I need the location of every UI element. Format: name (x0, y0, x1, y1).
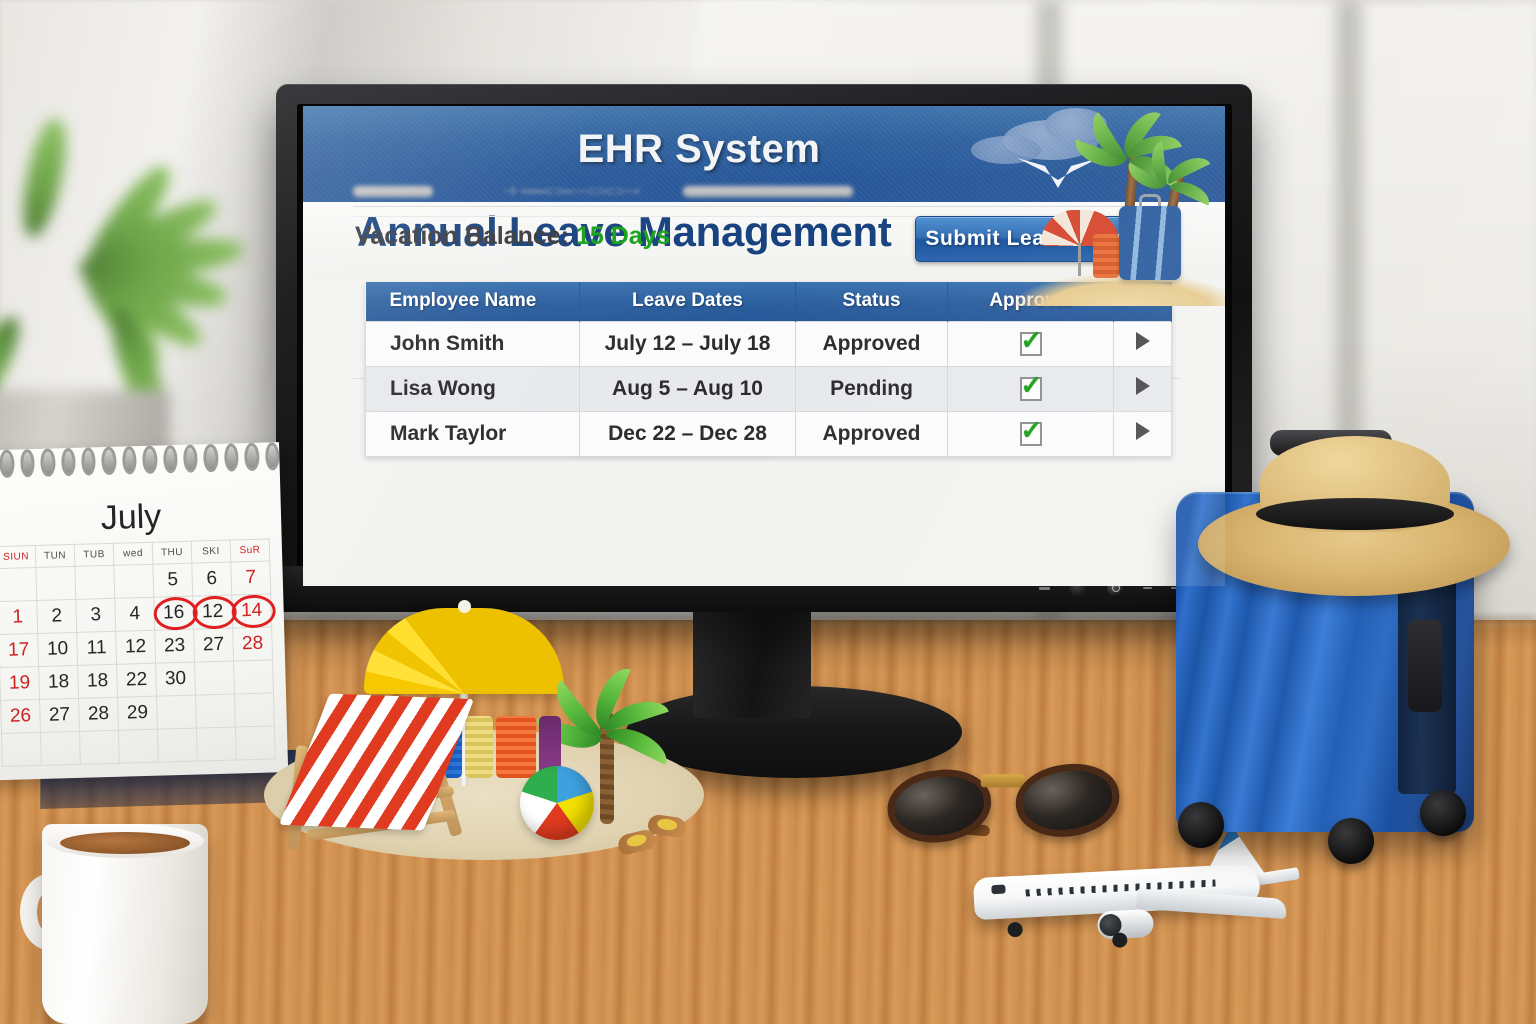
calendar-month-label: July (0, 494, 282, 541)
calendar-weekday-header: SKI (191, 540, 231, 563)
suitcase-wheel (1328, 818, 1374, 864)
calendar-day: 2 (37, 599, 77, 633)
airplane-wing (1136, 889, 1287, 919)
calendar-day (40, 731, 80, 765)
straw-hat (1198, 436, 1510, 596)
cell-employee-name: Lisa Wong (366, 366, 580, 411)
cell-action[interactable] (1114, 366, 1172, 411)
sunglasses-lens (1012, 758, 1124, 842)
calendar-grid: SIUN TUN TUB wed THU SKI SuR (0, 538, 276, 767)
deck-chair (271, 687, 481, 851)
beach-ball (520, 766, 594, 840)
cell-status: Approved (796, 411, 948, 456)
calendar-day-circled: 12 (193, 595, 233, 629)
cell-approval[interactable] (948, 321, 1114, 366)
table-row[interactable]: Lisa Wong Aug 5 – Aug 10 Pending (366, 366, 1172, 411)
blurred-subtitle-text: ⊣⊢∞∞∞⊂⊃∞∩∽⊂⊃⊂⊃∽∝ (503, 184, 640, 198)
approval-checkbox[interactable] (1020, 422, 1042, 446)
cell-leave-dates: Dec 22 – Dec 28 (580, 411, 796, 456)
umbrella-canopy (364, 608, 564, 694)
calendar-day: 18 (39, 665, 79, 699)
calendar-day (0, 567, 37, 601)
calendar-day (114, 564, 154, 598)
calendar-day (79, 730, 119, 764)
calendar-day (36, 566, 76, 600)
table-body: John Smith July 12 – July 18 Approved Li… (366, 321, 1172, 456)
column-header-employee-name[interactable]: Employee Name (366, 282, 580, 321)
vacation-balance-value: 15 Days (576, 222, 671, 250)
suitcase-wheel (1178, 802, 1224, 848)
coffee-mug (24, 812, 214, 1024)
calendar-day: 30 (156, 662, 196, 696)
office-desk-scene: EHR System Annual Leav (0, 0, 1536, 1024)
luggage-group (1162, 430, 1522, 880)
calendar-day: 26 (1, 699, 41, 733)
suitcase-wheel (1420, 790, 1466, 836)
vacation-balance-label: Vacation Balance: 15 Days (355, 222, 670, 251)
approval-checkbox[interactable] (1020, 377, 1042, 401)
calendar-page: July SIUN TUN TUB wed THU SKI SuR (0, 442, 288, 780)
cell-approval[interactable] (948, 411, 1114, 456)
landing-gear (1112, 932, 1128, 948)
calendar-day (196, 727, 236, 761)
travel-bag-icon (1093, 234, 1119, 278)
expand-row-arrow-icon[interactable] (1136, 332, 1150, 350)
calendar-day (2, 732, 42, 766)
hat-band (1256, 498, 1454, 530)
towel (496, 716, 536, 778)
calendar-day: 19 (0, 666, 40, 700)
screen-content: EHR System Annual Leav (303, 106, 1225, 586)
calendar-day (157, 695, 197, 729)
cell-employee-name: Mark Taylor (366, 411, 580, 456)
calendar-week-row (2, 726, 276, 767)
calendar-day: 27 (40, 698, 80, 732)
calendar-day: 7 (231, 561, 271, 595)
calendar-day: 17 (0, 633, 39, 667)
suitcase-icon (1119, 206, 1181, 280)
expand-row-arrow-icon[interactable] (1136, 377, 1150, 395)
calendar-day: 1 (0, 600, 38, 634)
calendar-day (118, 729, 158, 763)
cell-status: Pending (796, 366, 948, 411)
landing-gear (1007, 922, 1023, 938)
column-header-leave-dates[interactable]: Leave Dates (580, 282, 796, 321)
calendar-weekday-header: SuR (230, 539, 270, 562)
sunglasses-bridge (981, 774, 1025, 787)
cell-leave-dates: July 12 – July 18 (580, 321, 796, 366)
palm-frond-icon (1163, 152, 1210, 184)
expand-row-arrow-icon[interactable] (1136, 422, 1150, 440)
calendar-day: 29 (118, 696, 158, 730)
miniature-beach-set (258, 598, 728, 868)
calendar-day: 3 (76, 598, 116, 632)
calendar-day: 27 (194, 628, 234, 662)
menu-icon[interactable] (1039, 587, 1050, 590)
cell-leave-dates: Aug 5 – Aug 10 (580, 366, 796, 411)
coffee-surface (60, 832, 190, 854)
calendar-day: 5 (153, 563, 193, 597)
calendar-weekday-header: TUN (35, 544, 75, 567)
approval-checkbox[interactable] (1020, 332, 1042, 356)
cell-approval[interactable] (948, 366, 1114, 411)
calendar-day: 11 (77, 631, 117, 665)
table-row[interactable]: John Smith July 12 – July 18 Approved (366, 321, 1172, 366)
column-header-status[interactable]: Status (796, 282, 948, 321)
minus-icon[interactable] (1143, 587, 1152, 590)
beach-illustration (1007, 106, 1225, 306)
calendar-day: 12 (116, 630, 156, 664)
calendar-day (196, 694, 236, 728)
calendar-day (157, 728, 197, 762)
blurred-subtitle-line: ⊣⊢∞∞∞⊂⊃∞∩∽⊂⊃⊂⊃∽∝ (353, 184, 873, 200)
calendar-weekday-header: wed (113, 542, 153, 565)
calendar-weekday-header: TUB (74, 543, 114, 566)
calendar-day: 6 (192, 562, 232, 596)
calendar-day: 4 (115, 597, 155, 631)
cell-employee-name: John Smith (366, 321, 580, 366)
calendar-day: 22 (117, 663, 157, 697)
umbrella-finial (458, 600, 471, 613)
balance-label-text: Vacation Balance: (355, 222, 569, 250)
cockpit-window (991, 885, 1005, 895)
calendar-day: 18 (78, 664, 118, 698)
potted-plant (0, 60, 290, 460)
calendar-day: 23 (155, 629, 195, 663)
calendar-weekday-header: THU (152, 541, 192, 564)
table-row[interactable]: Mark Taylor Dec 22 – Dec 28 Approved (366, 411, 1172, 456)
cell-status: Approved (796, 321, 948, 366)
calendar-weekday-header: SIUN (0, 546, 36, 569)
leave-requests-table: Employee Name Leave Dates Status Approva… (365, 282, 1172, 457)
calendar-spiral-binding (0, 442, 280, 480)
calendar-day-circled: 16 (154, 596, 194, 630)
cell-action[interactable] (1114, 321, 1172, 366)
calendar-day (195, 661, 235, 695)
calendar-day: 28 (79, 697, 119, 731)
calendar-day (75, 565, 115, 599)
flip-flops (618, 816, 698, 856)
calendar-day: 10 (38, 632, 78, 666)
suitcase-side-handle (1408, 620, 1442, 712)
